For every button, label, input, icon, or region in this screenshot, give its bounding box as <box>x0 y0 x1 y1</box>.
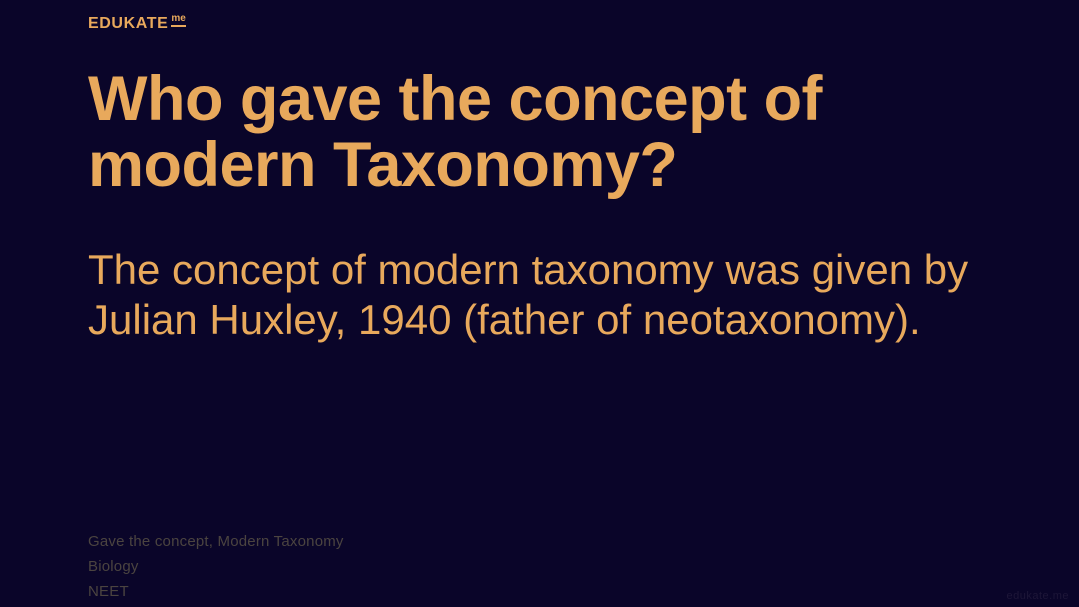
footer-metadata: Gave the concept, Modern Taxonomy Biolog… <box>88 529 344 604</box>
footer-tags: Gave the concept, Modern Taxonomy <box>88 529 344 554</box>
brand-wordmark: EDUKATE <box>88 16 168 32</box>
corner-watermark: edukate.me <box>1007 590 1069 602</box>
question-heading: Who gave the concept of modern Taxonomy? <box>88 66 998 198</box>
answer-body-text: The concept of modern taxonomy was given… <box>88 245 1008 345</box>
slide-canvas: EDUKATE me Who gave the concept of moder… <box>0 0 1079 607</box>
brand-superscript-me: me <box>171 14 185 27</box>
edukate-logo[interactable]: EDUKATE me <box>88 16 186 32</box>
footer-subject: Biology <box>88 554 344 579</box>
footer-exam: NEET <box>88 579 344 604</box>
